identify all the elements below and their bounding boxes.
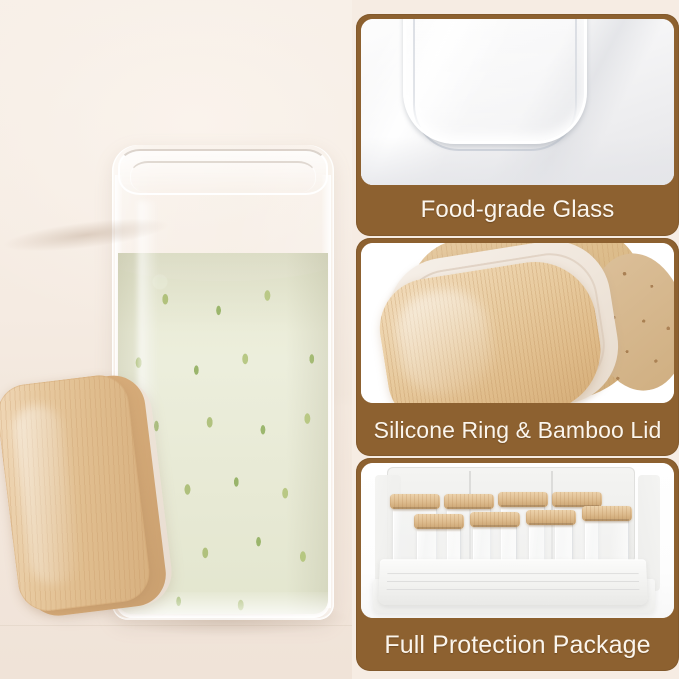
jar-rim-inner-edge — [130, 161, 316, 193]
feature-panel-column: Food-grade Glass Silicone Ring & Bamboo … — [352, 0, 679, 679]
feature-panel-food-grade-glass[interactable]: Food-grade Glass — [356, 14, 679, 236]
glass-corner-outline — [403, 19, 587, 144]
foam-tray-rib — [387, 573, 638, 574]
package-scene — [361, 463, 674, 618]
bamboo-lid-with-silicone-ring-photo — [361, 243, 674, 403]
panel-caption-silicone-ring-bamboo-lid: Silicone Ring & Bamboo Lid — [356, 404, 679, 456]
product-feature-infographic: Food-grade Glass Silicone Ring & Bamboo … — [0, 0, 679, 679]
feature-panel-full-protection-package[interactable]: Full Protection Package — [356, 458, 679, 671]
glass-scene — [361, 19, 674, 185]
bamboo-lid — [0, 370, 172, 625]
lid-scene — [361, 243, 674, 403]
foam-tray-rib — [387, 581, 639, 582]
bamboo-lid-sheen — [391, 284, 498, 401]
glass-container-corner-closeup-photo — [361, 19, 674, 185]
foam-tray-rib — [387, 589, 640, 590]
foam-tray — [378, 559, 648, 605]
panel-caption-full-protection-package: Full Protection Package — [356, 619, 679, 671]
hero-product-photo — [0, 0, 352, 679]
panel-caption-food-grade-glass: Food-grade Glass — [356, 184, 679, 236]
feature-panel-silicone-ring-bamboo-lid[interactable]: Silicone Ring & Bamboo Lid — [356, 238, 679, 456]
packaged-jar-set-in-foam-tray-photo — [361, 463, 674, 618]
lid-sheen — [11, 402, 81, 587]
